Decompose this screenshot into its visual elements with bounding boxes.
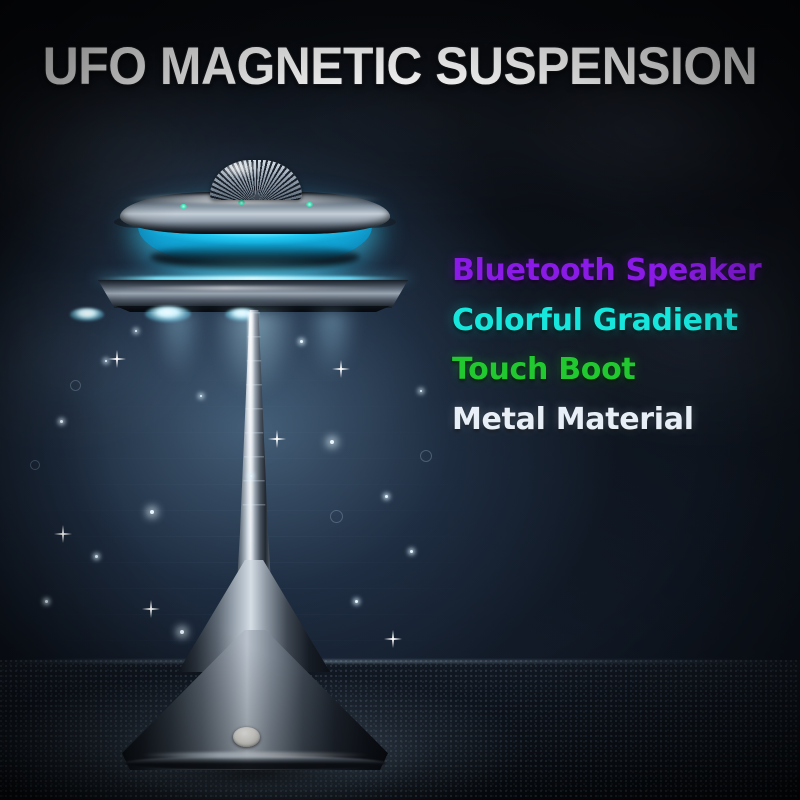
feature-list: Bluetooth Speaker Colorful Gradient Touc…	[452, 256, 792, 435]
base-downlight	[70, 308, 104, 321]
feature-item-bluetooth-speaker: Bluetooth Speaker	[452, 256, 792, 286]
ufo-ribbed-dome	[210, 160, 302, 200]
horizon-line	[0, 660, 800, 663]
ufo-indicator-light	[306, 202, 313, 207]
ufo-indicator-light	[238, 200, 245, 205]
touch-boot-button[interactable]	[233, 727, 260, 747]
feature-item-touch-boot: Touch Boot	[452, 355, 792, 385]
feature-item-metal-material: Metal Material	[452, 405, 792, 435]
dome-highlight	[223, 162, 262, 179]
feature-item-colorful-gradient: Colorful Gradient	[452, 306, 792, 336]
base-specular-highlight	[118, 286, 388, 290]
page-title: UFO MAGNETIC SUSPENSION	[24, 36, 776, 97]
magnetic-base-platform	[88, 278, 418, 312]
base-disc-body	[88, 280, 418, 308]
cone-rim-highlight	[140, 752, 370, 758]
cone-foot-rim	[124, 756, 386, 770]
ufo-indicator-light	[180, 204, 187, 209]
poster-canvas: UFO MAGNETIC SUSPENSION Bluetooth Speake…	[0, 0, 800, 800]
